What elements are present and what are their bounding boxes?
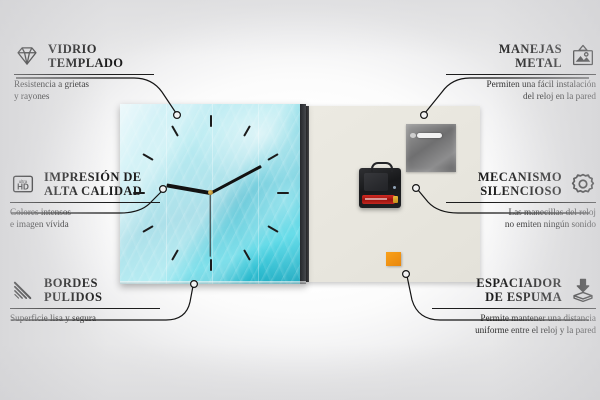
- infographic-canvas: VIDRIO TEMPLADO Resistencia a grietas y …: [0, 0, 600, 400]
- feature-mecanismo-silencioso: MECANISMO SILENCIOSO Las manecillas del …: [446, 170, 596, 230]
- mechanism-indicator-dot: [393, 186, 396, 189]
- hour-marker: [210, 259, 212, 271]
- feature-title-line2: ALTA CALIDAD: [44, 184, 142, 198]
- feature-title: IMPRESIÓN DE ALTA CALIDAD: [44, 170, 142, 198]
- glass-right-edge: [300, 104, 306, 284]
- feature-title-line2: DE ESPUMA: [476, 290, 562, 304]
- feature-title: VIDRIO TEMPLADO: [48, 42, 123, 70]
- feature-subtitle: Permite mantener una distancia uniforme …: [432, 313, 596, 336]
- hd-label: HD: [17, 182, 29, 191]
- feature-subtitle-line1: Resistencia a grietas: [14, 79, 154, 91]
- feature-header: ultra HD IMPRESIÓN DE ALTA CALIDAD: [10, 170, 160, 198]
- foam-spacer-arrow-icon: [570, 277, 596, 303]
- panel-dark-edge: [306, 106, 309, 282]
- mechanism-housing-face: [364, 173, 388, 191]
- feature-divider: [432, 308, 596, 309]
- feature-title-line1: BORDES: [44, 276, 102, 290]
- feature-subtitle-line1: Superficie lisa y segura: [10, 313, 160, 325]
- feature-divider: [10, 202, 160, 203]
- feature-subtitle-line2: del reloj en la pared: [446, 91, 596, 103]
- feature-subtitle-line2: no emiten ningún sonido: [446, 219, 596, 231]
- hour-marker: [277, 192, 289, 194]
- mechanism-hanging-loop: [371, 162, 393, 172]
- feature-title: BORDES PULIDOS: [44, 276, 102, 304]
- feature-title-line2: PULIDOS: [44, 290, 102, 304]
- product-image: [120, 104, 480, 284]
- feature-title-line2: METAL: [499, 56, 562, 70]
- feature-vidrio-templado: VIDRIO TEMPLADO Resistencia a grietas y …: [14, 42, 154, 102]
- feature-subtitle: Superficie lisa y segura: [10, 313, 160, 325]
- foam-spacer: [386, 252, 401, 266]
- feature-header: MANEJAS METAL: [446, 42, 596, 70]
- feature-title-line2: TEMPLADO: [48, 56, 123, 70]
- feature-subtitle: Resistencia a grietas y rayones: [14, 79, 154, 102]
- second-hand: [209, 193, 210, 257]
- feature-title-line1: VIDRIO: [48, 42, 123, 56]
- clock-center-pin: [208, 190, 213, 195]
- metal-hanger-plate: [406, 124, 456, 172]
- diamond-icon: [14, 43, 40, 69]
- feature-subtitle-line1: Colores intensos: [10, 207, 160, 219]
- feature-header: MECANISMO SILENCIOSO: [446, 170, 596, 198]
- ultra-hd-badge-icon: ultra HD: [10, 171, 36, 197]
- feature-header: BORDES PULIDOS: [10, 276, 160, 304]
- feature-subtitle-line2: y rayones: [14, 91, 154, 103]
- feature-title: MANEJAS METAL: [499, 42, 562, 70]
- feature-divider: [14, 74, 154, 75]
- feature-title-line2: SILENCIOSO: [478, 184, 562, 198]
- feature-manejas-metal: MANEJAS METAL Permiten una fácil instala…: [446, 42, 596, 102]
- feature-header: VIDRIO TEMPLADO: [14, 42, 154, 70]
- feature-title-line1: IMPRESIÓN DE: [44, 170, 142, 184]
- hanger-keyhole-slot: [417, 133, 442, 138]
- feature-impresion-alta-calidad: ultra HD IMPRESIÓN DE ALTA CALIDAD Color…: [10, 170, 160, 230]
- feature-subtitle: Las manecillas del reloj no emiten ningú…: [446, 207, 596, 230]
- clock-mechanism-box: [359, 168, 401, 208]
- gear-icon: [570, 171, 596, 197]
- feature-espaciador-de-espuma: ESPACIADOR DE ESPUMA Permite mantener un…: [432, 276, 596, 336]
- glass-seam: [258, 104, 259, 284]
- feature-divider: [446, 74, 596, 75]
- battery-stripe: [365, 198, 387, 200]
- feature-title-line1: ESPACIADOR: [476, 276, 562, 290]
- hour-marker: [210, 115, 212, 127]
- feature-subtitle-line1: Permiten una fácil instalación: [446, 79, 596, 91]
- feature-divider: [446, 202, 596, 203]
- feature-subtitle-line2: e imagen vívida: [10, 219, 160, 231]
- feature-title-line1: MECANISMO: [478, 170, 562, 184]
- feature-subtitle: Permiten una fácil instalación del reloj…: [446, 79, 596, 102]
- battery: [362, 195, 395, 204]
- feature-bordes-pulidos: BORDES PULIDOS Superficie lisa y segura: [10, 276, 160, 325]
- feature-subtitle-line1: Permite mantener una distancia: [432, 313, 596, 325]
- feature-divider: [10, 308, 160, 309]
- feature-title-line1: MANEJAS: [499, 42, 562, 56]
- feature-header: ESPACIADOR DE ESPUMA: [432, 276, 596, 304]
- feature-title: ESPACIADOR DE ESPUMA: [476, 276, 562, 304]
- polished-edge-lines-icon: [10, 277, 36, 303]
- glass-seam: [166, 104, 167, 284]
- feature-subtitle: Colores intensos e imagen vívida: [10, 207, 160, 230]
- feature-subtitle-line1: Las manecillas del reloj: [446, 207, 596, 219]
- feature-title: MECANISMO SILENCIOSO: [478, 170, 562, 198]
- hanging-frame-icon: [570, 43, 596, 69]
- feature-subtitle-line2: uniforme entre el reloj y la pared: [432, 325, 596, 337]
